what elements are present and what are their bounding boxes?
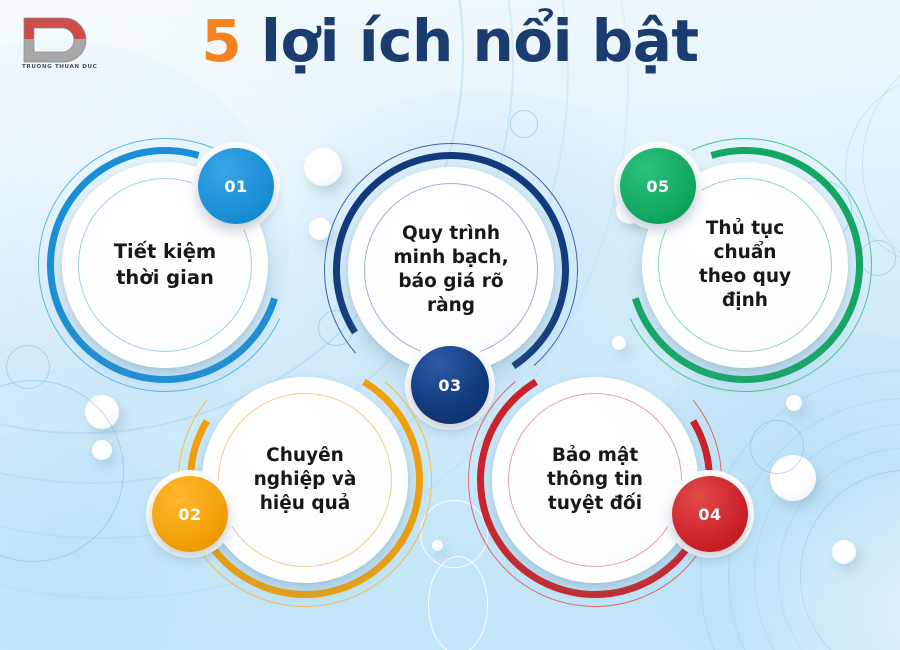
deco-sphere-11 [612, 336, 626, 350]
title-text: lợi ích nổi bật [261, 7, 699, 75]
benefit-label-line3-04: tuyệt đối [548, 493, 642, 514]
bg-arc-br-3 [754, 424, 900, 650]
page-title: 5 lợi ích nổi bật [0, 12, 900, 70]
deco-outline-circle-9 [510, 110, 538, 138]
benefit-inner-02: Chuyên nghiệp và hiệu quả [218, 393, 392, 567]
benefit-label-04: Bảo mật thông tin tuyệt đối [541, 444, 649, 516]
bg-arc-br-4 [728, 398, 900, 650]
bg-arc-br-1 [800, 470, 900, 650]
benefit-inner-03: Quy trình minh bạch, báo giá rõ ràng [364, 183, 538, 357]
benefit-label-line2-05: chuẩn [714, 242, 777, 263]
deco-sphere-6 [92, 440, 112, 460]
benefit-label-line1-04: Bảo mật [552, 445, 638, 466]
benefit-label-line2-01: thời gian [116, 266, 214, 289]
deco-sphere-10 [832, 540, 856, 564]
deco-outline-circle-6 [0, 380, 124, 562]
benefit-badge-number-04: 04 [698, 505, 721, 524]
benefit-badge-number-01: 01 [224, 177, 247, 196]
title-number: 5 [201, 7, 241, 75]
benefit-badge-03[interactable]: 03 [411, 346, 489, 424]
benefit-badge-number-03: 03 [438, 376, 461, 395]
benefit-label-line4-05: định [722, 290, 768, 311]
benefit-label-line1-05: Thủ tục [706, 218, 784, 239]
benefit-label-03: Quy trình minh bạch, báo giá rõ ràng [387, 222, 514, 318]
deco-sphere-8 [786, 395, 802, 411]
benefit-badge-number-02: 02 [178, 505, 201, 524]
deco-sphere-5 [85, 395, 119, 429]
benefit-label-line1-01: Tiết kiệm [114, 240, 217, 263]
deco-outline-circle-3 [750, 420, 804, 474]
benefit-inner-04: Bảo mật thông tin tuyệt đối [508, 393, 682, 567]
benefit-label-line4-03: ràng [427, 295, 475, 316]
benefit-badge-01[interactable]: 01 [198, 148, 274, 224]
deco-sphere-9 [432, 540, 443, 551]
deco-outline-circle-2 [428, 556, 488, 650]
benefit-label-02: Chuyên nghiệp và hiệu quả [248, 444, 363, 516]
benefit-label-05: Thủ tục chuẩn theo quy định [693, 217, 797, 313]
benefit-label-line3-03: báo giá rõ [398, 271, 503, 292]
benefit-badge-05[interactable]: 05 [620, 148, 696, 224]
benefit-badge-number-05: 05 [646, 177, 669, 196]
benefit-label-line2-04: thông tin [547, 469, 643, 490]
deco-sphere-7 [770, 455, 816, 501]
benefit-label-line2-02: nghiệp và [254, 469, 357, 490]
benefit-label-line1-03: Quy trình [402, 223, 500, 244]
benefit-label-line3-02: hiệu quả [260, 493, 351, 514]
bg-arc-br-2 [778, 448, 900, 650]
deco-sphere-1 [304, 148, 342, 186]
benefit-badge-02[interactable]: 02 [152, 476, 228, 552]
benefit-label-line3-05: theo quy [699, 266, 791, 287]
deco-outline-circle-5 [6, 345, 50, 389]
infographic-canvas: TRUONG THUAN DUC 5 lợi ích nổi bật Tiết … [0, 0, 900, 650]
benefit-label-line2-03: minh bạch, [393, 247, 508, 268]
benefit-label-line1-02: Chuyên [266, 445, 344, 466]
benefit-label-01: Tiết kiệm thời gian [108, 239, 223, 290]
benefit-badge-04[interactable]: 04 [672, 476, 748, 552]
